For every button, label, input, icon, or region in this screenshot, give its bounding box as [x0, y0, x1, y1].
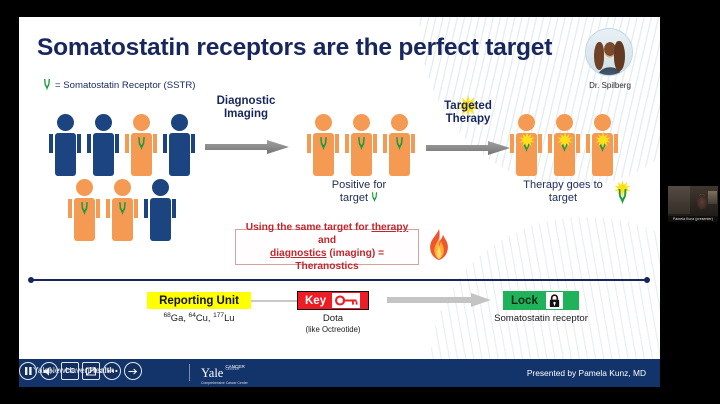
- person-arm-left: [144, 199, 148, 218]
- person-figure-treated: [508, 114, 544, 176]
- person-head: [133, 114, 150, 131]
- yale-wordmark: Yale: [201, 366, 223, 380]
- person-head: [518, 114, 535, 131]
- participant-video-tile[interactable]: Pamela Kunz (presenter): [668, 186, 718, 222]
- person-arm-right: [115, 134, 119, 153]
- person-body: [169, 133, 190, 176]
- isotope-2: Cu: [196, 312, 208, 323]
- legend: = Somatostatin Receptor (SSTR): [43, 79, 196, 91]
- person-arm-left: [383, 134, 387, 153]
- yale-tagline: Comprehensive Cancer Center: [201, 381, 248, 385]
- legend-label: = Somatostatin Receptor (SSTR): [55, 80, 196, 91]
- stage-label-targeted-therapy: Targeted Therapy: [425, 100, 511, 126]
- theranostics-callout: Using the same target for therapy and di…: [235, 229, 419, 265]
- dota-main: Dota: [287, 313, 379, 325]
- person-head: [353, 114, 370, 131]
- person-arm-left: [307, 134, 311, 153]
- sunburst-icon: [557, 132, 573, 148]
- quality-button[interactable]: [82, 362, 100, 380]
- participant-name-label: Pamela Kunz (presenter): [668, 216, 718, 222]
- person-arm-right: [614, 134, 618, 153]
- person-figure-positive: [381, 114, 417, 176]
- theranostics-line1-a: Using the same target for: [246, 222, 372, 233]
- person-body: [150, 198, 171, 241]
- person-arm-left: [49, 134, 53, 153]
- person-figure: [142, 179, 178, 241]
- arrow-right-icon: [205, 140, 289, 154]
- person-arm-right: [538, 134, 542, 153]
- captions-button[interactable]: CC: [61, 362, 79, 380]
- person-figure-treated: [584, 114, 620, 176]
- person-figure-positive: [66, 179, 102, 241]
- yale-cancer-center-logo: YaleCANCERCENTER Comprehensive Cancer Ce…: [201, 364, 248, 385]
- screen-root: Pamela Kunz (presenter) Somatostatin rec…: [0, 0, 720, 404]
- person-head: [76, 179, 93, 196]
- caption-line-1: Positive for: [301, 179, 417, 192]
- flame-icon: [427, 229, 451, 263]
- person-figure-positive: [104, 179, 140, 241]
- dota-caption: Dota (like Octreotide): [287, 313, 379, 334]
- connector-line: [251, 300, 297, 302]
- isotope-3: Lu: [224, 312, 234, 323]
- person-arm-left: [106, 199, 110, 218]
- background-lamp: [708, 191, 717, 204]
- footer-logo-separator: [189, 364, 190, 381]
- section-divider: [29, 279, 649, 281]
- avatar-face: [586, 29, 632, 75]
- theranostics-line1-b: and: [318, 235, 336, 246]
- person-figure-treated: [546, 114, 582, 176]
- person-arm-right: [576, 134, 580, 153]
- arrow-right-icon: [426, 141, 510, 155]
- stage-label-diagnostic-imaging: Diagnostic Imaging: [204, 95, 288, 121]
- person-figure: [161, 114, 197, 176]
- lock-label: Lock: [511, 295, 538, 307]
- yale-sub-line-2: CENTER: [225, 368, 244, 372]
- theranostics-line1-underlined: therapy: [371, 222, 408, 233]
- video-participant-rail: Pamela Kunz (presenter): [660, 0, 720, 404]
- person-arm-right: [96, 199, 100, 218]
- lock-chip: Lock: [503, 291, 579, 310]
- divider-dot-right: [644, 277, 650, 283]
- theranostics-text: Using the same target for therapy and di…: [236, 221, 418, 273]
- sunburst-icon: [519, 132, 535, 148]
- yale-sub: CANCERCENTER: [225, 364, 244, 372]
- sunburst-icon: [595, 132, 611, 148]
- key-icon: [332, 293, 360, 308]
- reporting-unit-label: Reporting Unit: [159, 295, 239, 307]
- person-arm-left: [68, 199, 72, 218]
- receptor-icon: [617, 189, 628, 205]
- person-figure: [47, 114, 83, 176]
- person-arm-left: [125, 134, 129, 153]
- more-options-button[interactable]: [103, 362, 121, 380]
- person-arm-right: [77, 134, 81, 153]
- page-title: Somatostatin receptors are the perfect t…: [37, 34, 552, 62]
- isotope-2-mass: 64: [189, 312, 196, 319]
- person-arm-right: [411, 134, 415, 153]
- receptor-icon: [137, 137, 146, 151]
- stage-label-line-2: Therapy: [425, 113, 511, 126]
- key-chip: Key: [297, 291, 369, 310]
- person-arm-right: [335, 134, 339, 153]
- person-arm-right: [191, 134, 195, 153]
- person-head: [114, 179, 131, 196]
- person-figure-positive: [343, 114, 379, 176]
- person-figure-positive: [305, 114, 341, 176]
- person-arm-left: [163, 134, 167, 153]
- caption-positive-for-target: Positive for target: [301, 179, 417, 204]
- video-player-controls[interactable]: CC: [19, 359, 142, 383]
- person-arm-left: [548, 134, 552, 153]
- receptor-icon: [319, 137, 328, 151]
- stage-label-line-1: Diagnostic: [204, 95, 288, 108]
- dota-sub: (like Octreotide): [287, 325, 379, 334]
- person-arm-left: [586, 134, 590, 153]
- stage-label-line-2: Imaging: [204, 108, 288, 121]
- receptor-icon: [118, 202, 127, 216]
- person-head: [57, 114, 74, 131]
- decorative-swoosh-bottom-right: [406, 191, 660, 387]
- isotope-1-mass: 68: [163, 312, 170, 319]
- lock-icon: [546, 292, 563, 309]
- theranostics-line2-underlined: diagnostics: [270, 248, 327, 259]
- person-body: [93, 133, 114, 176]
- reporting-unit-chip: Reporting Unit: [147, 292, 251, 309]
- caption-line-2: target: [340, 192, 368, 205]
- person-head: [594, 114, 611, 131]
- person-figure-positive: [123, 114, 159, 176]
- person-arm-right: [134, 199, 138, 218]
- isotope-3-mass: 177: [213, 312, 224, 319]
- receptor-icon: [80, 202, 89, 216]
- person-head: [556, 114, 573, 131]
- avatar-hair-left: [594, 42, 604, 70]
- receptor-icon: [395, 137, 404, 151]
- stage-label-line-1: Targeted: [425, 100, 511, 113]
- person-arm-right: [153, 134, 157, 153]
- key-label: Key: [305, 295, 326, 307]
- person-arm-left: [345, 134, 349, 153]
- person-head: [171, 114, 188, 131]
- person-head: [391, 114, 408, 131]
- person-arm-right: [172, 199, 176, 218]
- receptor-icon: [371, 192, 378, 203]
- presented-by-label: Presented by Pamela Kunz, MD: [527, 368, 646, 378]
- person-body: [55, 133, 76, 176]
- avatar-caption: Dr. Spilberg: [575, 81, 645, 90]
- person-head: [315, 114, 332, 131]
- person-arm-left: [87, 134, 91, 153]
- volume-button[interactable]: [40, 362, 58, 380]
- person-arm-right: [373, 134, 377, 153]
- isotope-1: Ga: [171, 312, 184, 323]
- next-button[interactable]: [124, 362, 142, 380]
- isotopes-caption: 68Ga, 64Cu, 177Lu: [137, 312, 261, 323]
- lock-caption: Somatostatin receptor: [465, 313, 617, 324]
- person-arm-left: [510, 134, 514, 153]
- person-head: [152, 179, 169, 196]
- person-figure: [85, 114, 121, 176]
- person-head: [95, 114, 112, 131]
- captions-label: CC: [65, 368, 75, 375]
- background-wall: [668, 186, 690, 214]
- divider-dot-left: [28, 277, 34, 283]
- presentation-slide: Somatostatin receptors are the perfect t…: [19, 17, 660, 387]
- arrow-right-icon: [387, 293, 491, 307]
- receptor-icon: [43, 79, 51, 91]
- receptor-icon: [357, 137, 366, 151]
- avatar: [585, 28, 633, 76]
- avatar-hair-right: [614, 41, 625, 71]
- play-pause-button[interactable]: [19, 362, 37, 380]
